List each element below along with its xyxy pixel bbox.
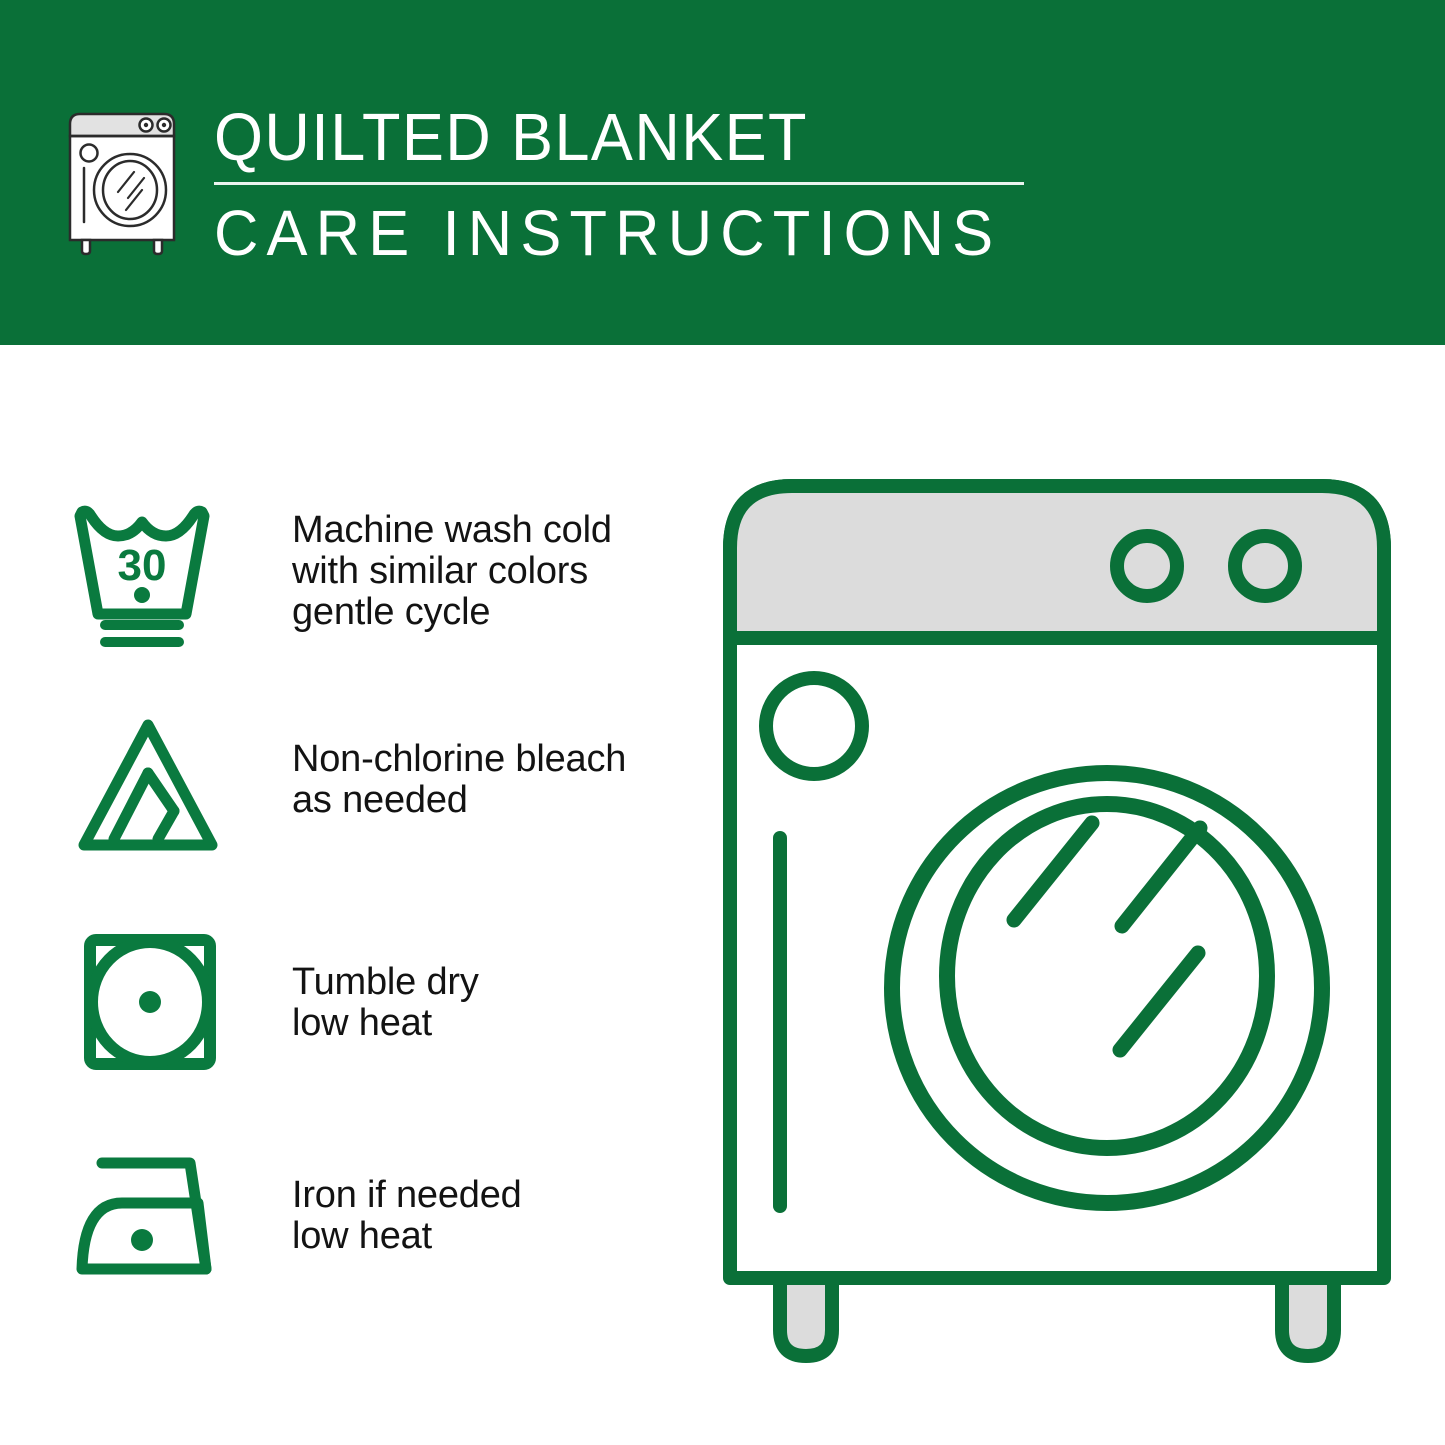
header-band: QUILTED BLANKET CARE INSTRUCTIONS xyxy=(0,0,1445,345)
leg-left xyxy=(780,1278,832,1356)
care-instruction-list: 30 Machine wash cold with similar colors… xyxy=(70,492,690,1352)
gentle-cycle-dot xyxy=(134,587,150,603)
page-subtitle: CARE INSTRUCTIONS xyxy=(214,197,1001,269)
front-load-washing-machine-illustration xyxy=(722,478,1392,1368)
tumble-dry-low-heat-icon xyxy=(70,922,230,1082)
care-row-iron: Iron if needed low heat xyxy=(70,1137,690,1352)
page-title: QUILTED BLANKET xyxy=(214,100,985,176)
wash-temperature-label: 30 xyxy=(118,541,167,590)
knob-left[interactable] xyxy=(1117,536,1177,596)
care-symbol-wrapper xyxy=(70,1137,230,1297)
washing-machine-icon xyxy=(62,106,182,256)
triangle-non-chlorine-bleach-icon xyxy=(70,707,230,867)
care-instructions-infographic: QUILTED BLANKET CARE INSTRUCTIONS 30 xyxy=(0,0,1445,1445)
header-title-block: QUILTED BLANKET CARE INSTRUCTIONS xyxy=(214,100,1034,269)
indicator-light xyxy=(766,678,862,774)
title-divider xyxy=(214,182,1024,185)
care-row-bleach: Non-chlorine bleach as needed xyxy=(70,707,690,922)
care-text-bleach: Non-chlorine bleach as needed xyxy=(292,707,626,821)
knob-right[interactable] xyxy=(1235,536,1295,596)
care-text-machine-wash: Machine wash cold with similar colors ge… xyxy=(292,492,612,633)
care-symbol-wrapper: 30 xyxy=(70,492,230,652)
care-symbol-wrapper xyxy=(70,707,230,867)
care-row-machine-wash: 30 Machine wash cold with similar colors… xyxy=(70,492,690,707)
wash-tub-30-gentle-icon: 30 xyxy=(70,492,230,652)
low-heat-dot xyxy=(139,991,161,1013)
care-symbol-wrapper xyxy=(70,922,230,1082)
care-text-iron: Iron if needed low heat xyxy=(292,1137,522,1257)
header-content: QUILTED BLANKET CARE INSTRUCTIONS xyxy=(62,100,1382,275)
iron-low-heat-icon xyxy=(70,1137,230,1297)
care-row-tumble-dry: Tumble dry low heat xyxy=(70,922,690,1137)
leg-right xyxy=(1282,1278,1334,1356)
care-text-tumble-dry: Tumble dry low heat xyxy=(292,922,479,1044)
iron-low-heat-dot xyxy=(131,1229,153,1251)
